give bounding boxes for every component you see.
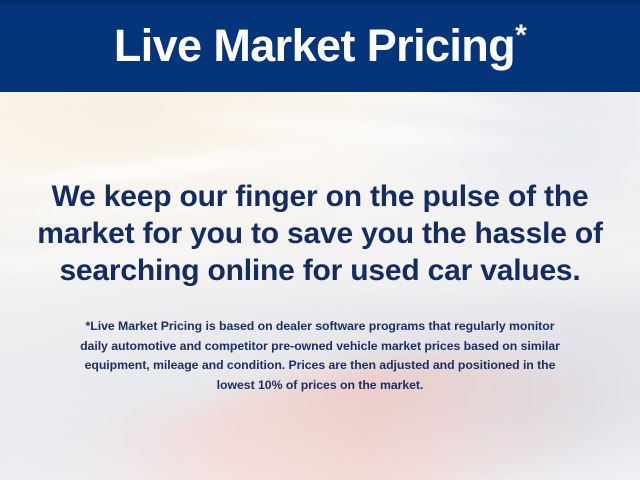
- disclaimer-line: lowest 10% of prices on the market.: [0, 376, 640, 396]
- headline-line: We keep our finger on the pulse of the: [0, 178, 640, 215]
- title-asterisk: *: [515, 19, 526, 52]
- page-title: Live Market Pricing*: [114, 23, 526, 70]
- headline-line: searching online for used car values.: [0, 252, 640, 289]
- headline-line: market for you to save you the hassle of: [0, 215, 640, 252]
- live-market-pricing-banner: Live Market Pricing* We keep our finger …: [0, 0, 640, 480]
- page-title-text: Live Market Pricing: [114, 20, 515, 71]
- headline: We keep our finger on the pulse of the m…: [0, 178, 640, 289]
- disclaimer-line: equipment, mileage and condition. Prices…: [0, 356, 640, 376]
- header-band: Live Market Pricing*: [0, 0, 640, 92]
- disclaimer-line: daily automotive and competitor pre-owne…: [0, 337, 640, 357]
- disclaimer-line: *Live Market Pricing is based on dealer …: [0, 317, 640, 337]
- disclaimer: *Live Market Pricing is based on dealer …: [0, 317, 640, 395]
